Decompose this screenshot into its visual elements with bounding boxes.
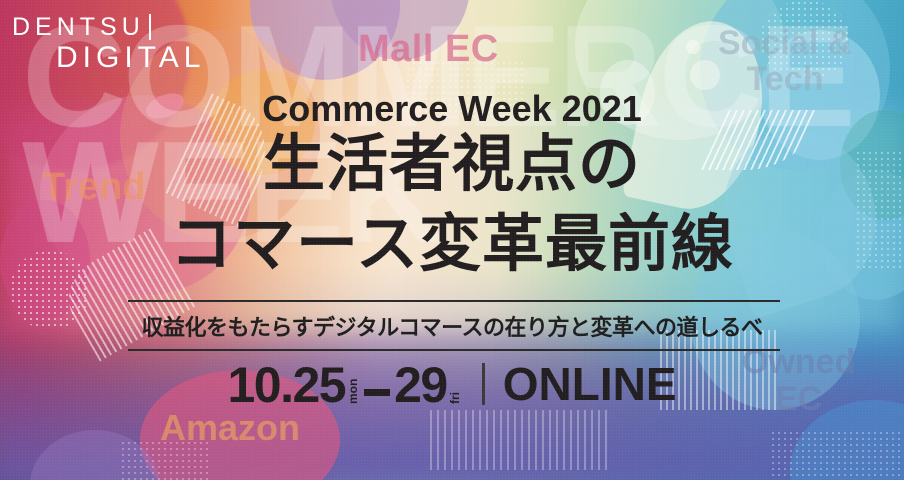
logo-text-digital: DIGITAL [56, 43, 205, 73]
background-gradient-middle-band [0, 110, 904, 340]
logo-divider-bar [149, 14, 151, 40]
background-gradient-bottom-band [0, 330, 904, 480]
logo-text-dentsu: DENTSU [12, 15, 145, 40]
key-visual-banner: COMMERCE WEEK Mall EC Social & Tech Tren… [0, 0, 904, 480]
dentsu-digital-logo: DENTSU DIGITAL [12, 14, 205, 73]
logo-line-1: DENTSU [12, 14, 205, 40]
logo-line-2: DIGITAL [12, 40, 205, 73]
